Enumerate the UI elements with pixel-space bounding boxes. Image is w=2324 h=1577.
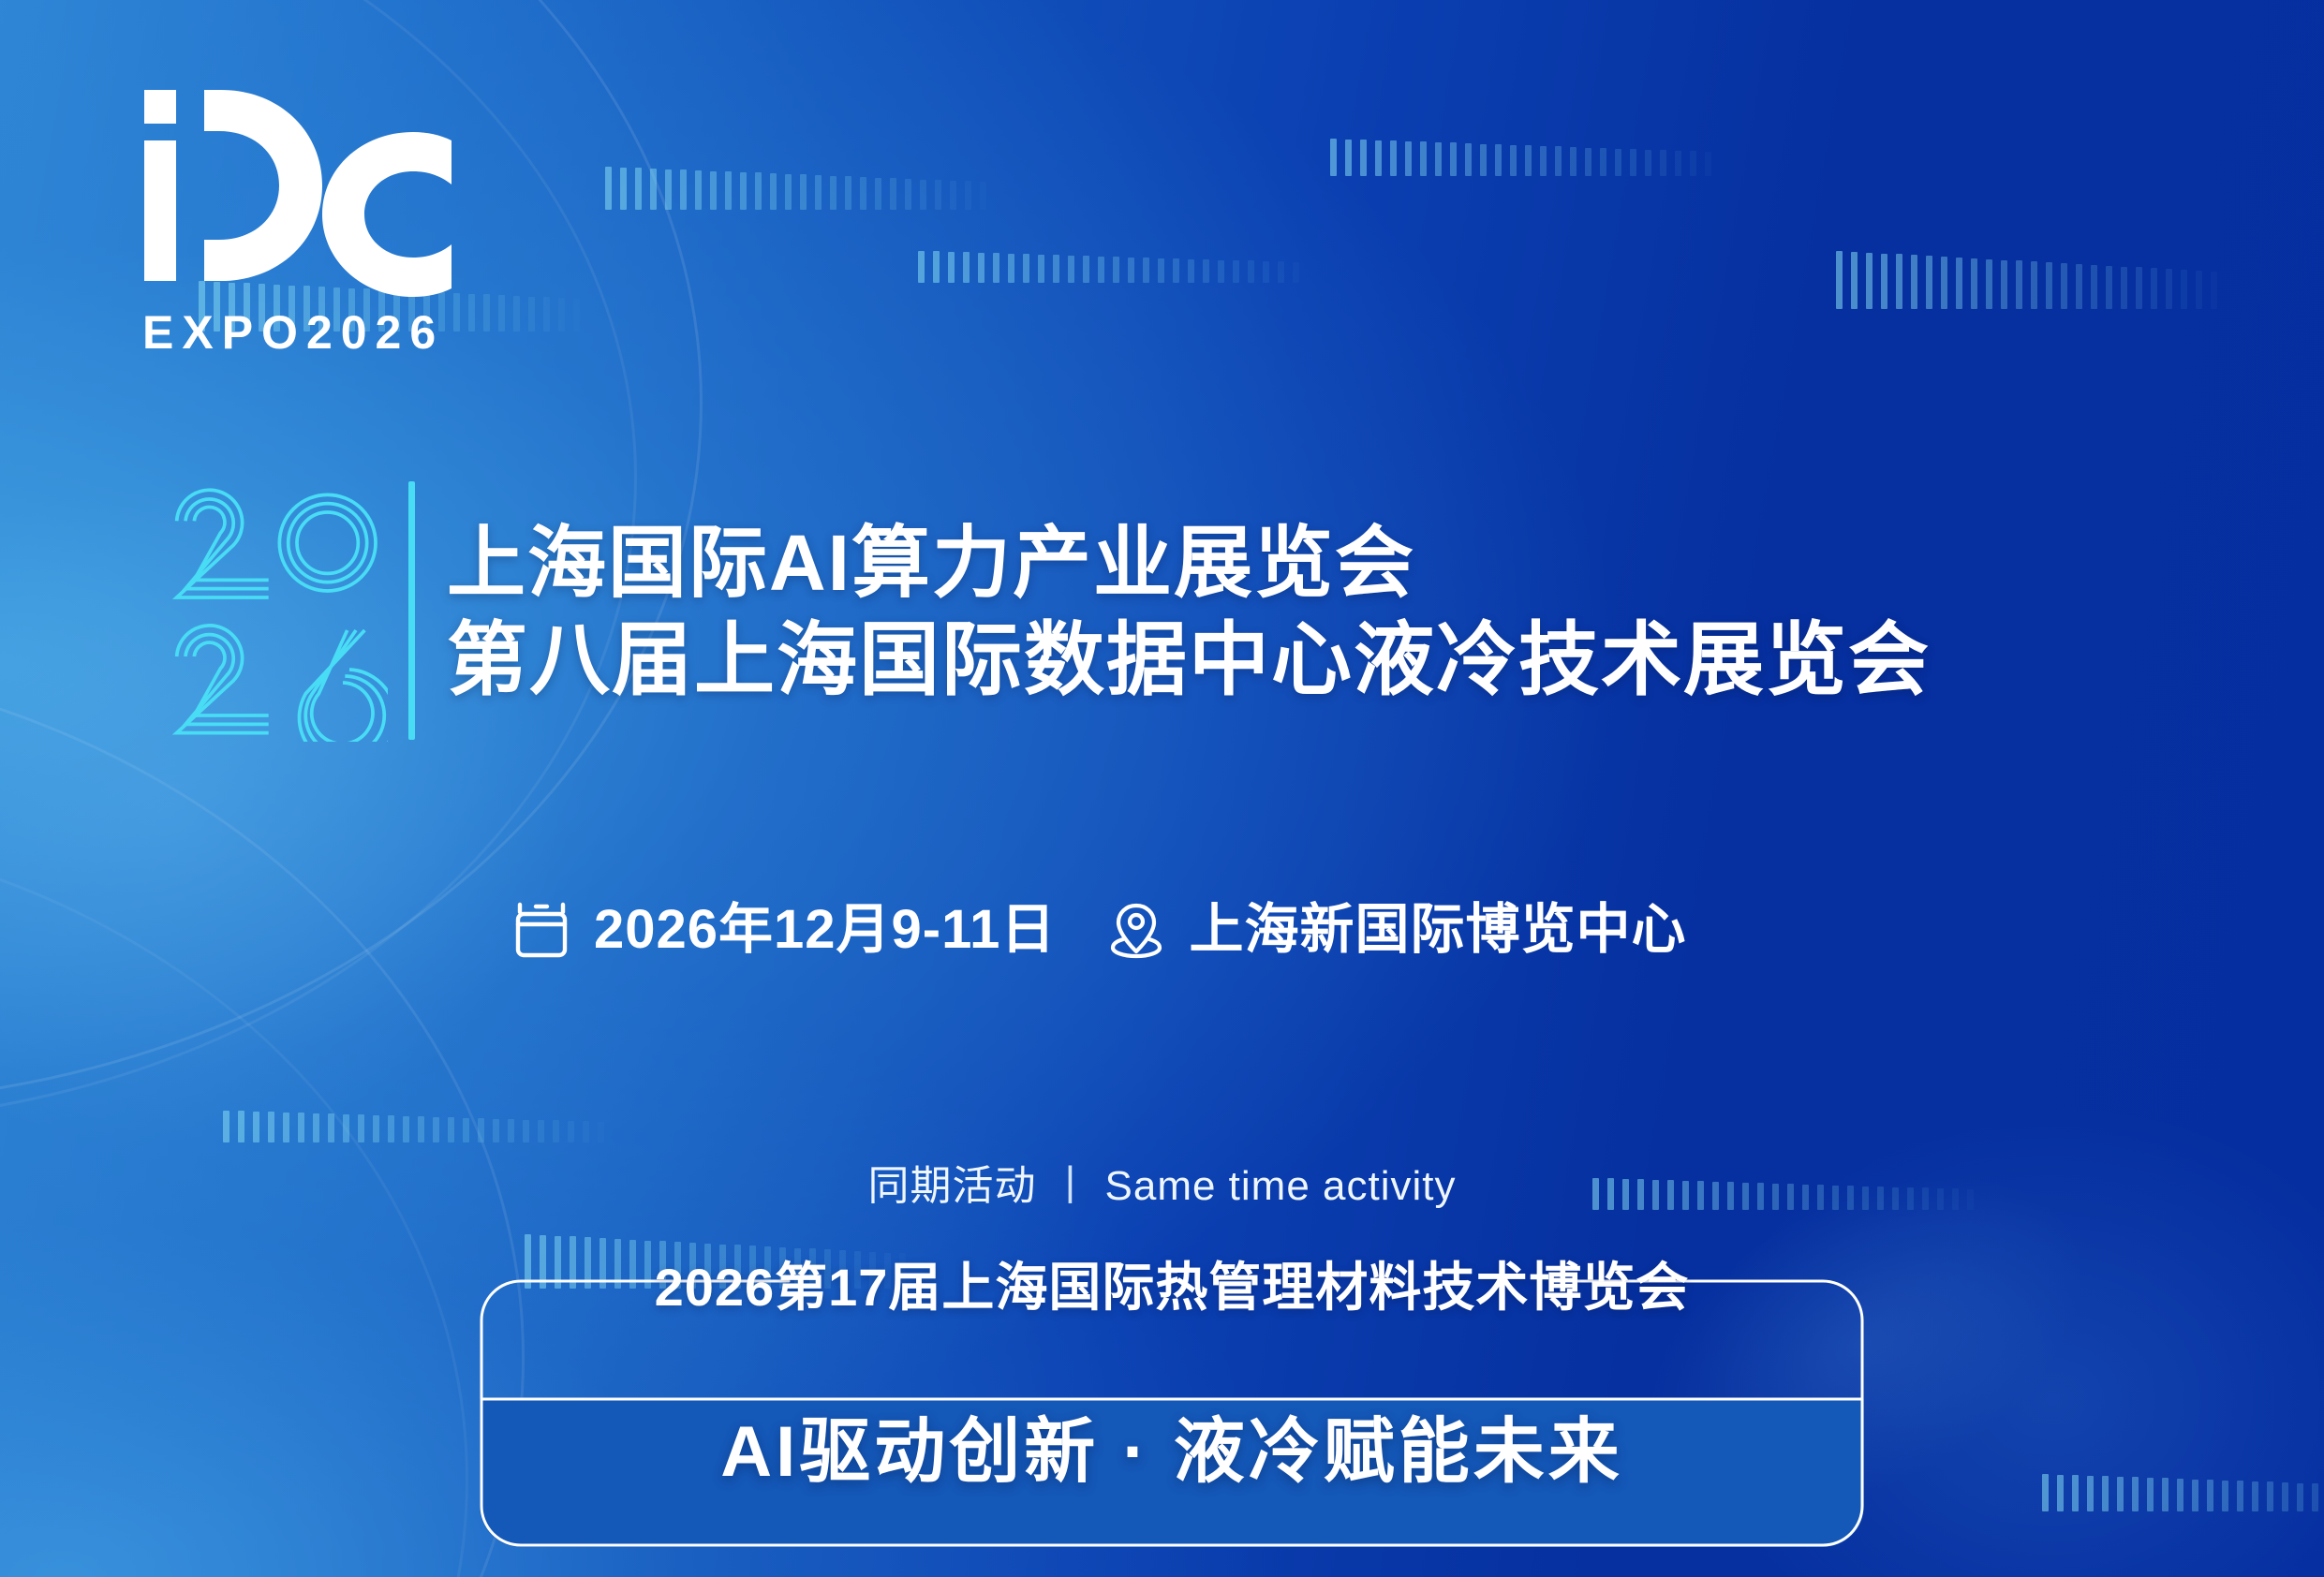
headline-divider	[408, 481, 415, 740]
same-time-separator: 丨	[1037, 1163, 1105, 1209]
headline-block: 上海国际AI算力产业展览会 第八届上海国际数据中心液冷技术展览会	[167, 479, 1931, 742]
event-meta-row: 2026年12月9-11日 上海新国际博览中心	[513, 901, 1686, 959]
event-date: 2026年12月9-11日	[513, 901, 1056, 959]
idc-logo-mark	[142, 82, 461, 298]
calendar-icon	[513, 901, 570, 959]
headline-titles: 上海国际AI算力产业展览会 第八届上海国际数据中心液冷技术展览会	[447, 479, 1931, 742]
year-2026-mark	[167, 479, 388, 742]
decorative-ticks	[2042, 1474, 2324, 1511]
title-line-1: 上海国际AI算力产业展览会	[447, 522, 1931, 605]
decorative-ticks	[1836, 251, 2217, 309]
location-pin-icon	[1108, 901, 1164, 959]
decorative-ticks	[918, 251, 1299, 283]
decorative-ticks	[223, 1111, 604, 1142]
expo-wordmark: EXPO2026	[142, 309, 480, 356]
panel-slogan: AI驱动创新 · 液冷赋能未来	[480, 1393, 1864, 1496]
idc-expo-logo: EXPO2026	[142, 82, 480, 356]
same-time-cn: 同期活动	[868, 1163, 1037, 1209]
event-venue-text: 上海新国际博览中心	[1189, 903, 1686, 957]
event-date-text: 2026年12月9-11日	[594, 903, 1056, 957]
panel-title: 2026第17届上海国际热管理材料技术博览会	[480, 1245, 1864, 1321]
title-line-2: 第八届上海国际数据中心液冷技术展览会	[447, 618, 1931, 703]
co-event-panel: 2026第17届上海国际热管理材料技术博览会 AI驱动创新 · 液冷赋能未来	[480, 1279, 1864, 1547]
decorative-ticks	[1330, 139, 1711, 176]
event-venue: 上海新国际博览中心	[1108, 901, 1686, 959]
same-time-en: Same time activity	[1105, 1163, 1457, 1209]
same-time-activity-label: 同期活动丨Same time activity	[0, 1152, 2324, 1212]
poster-canvas: EXPO2026	[0, 0, 2324, 1577]
decorative-ticks	[605, 167, 986, 210]
decorative-arc	[0, 656, 525, 1577]
